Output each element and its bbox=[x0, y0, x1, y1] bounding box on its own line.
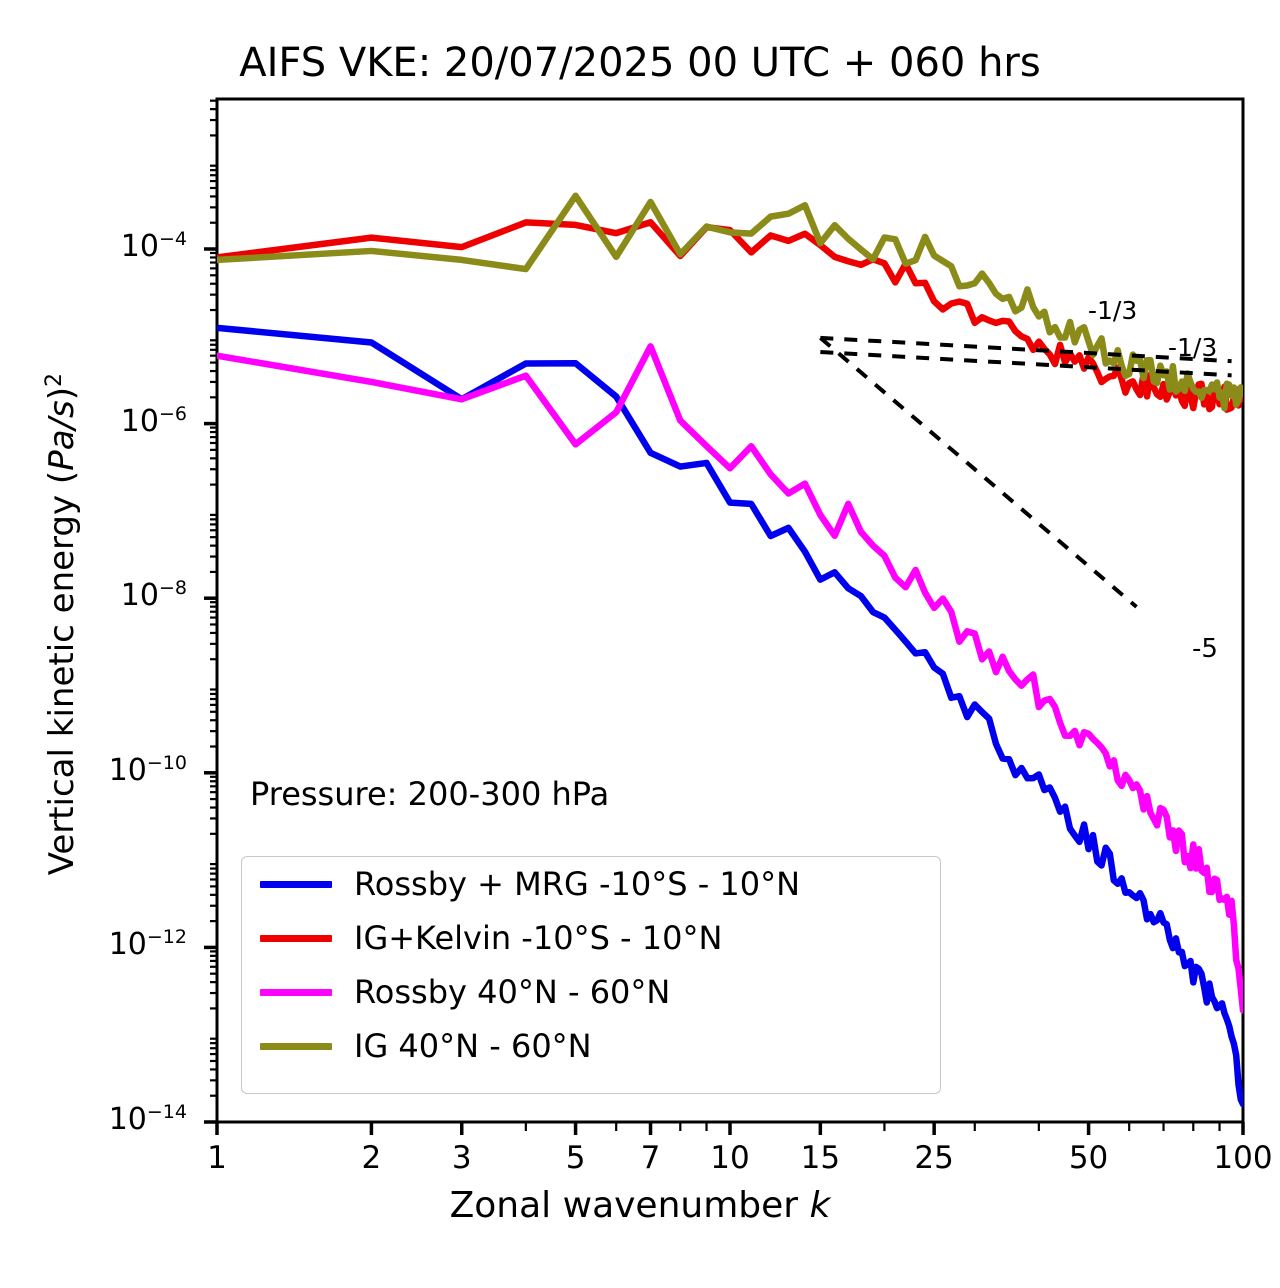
x-tick-label-1: 1 bbox=[172, 1140, 262, 1176]
x-tick-label-50: 50 bbox=[1044, 1140, 1134, 1176]
x-tick-label-3: 3 bbox=[417, 1140, 507, 1176]
y-tick-exponent: −10 bbox=[147, 752, 187, 774]
legend-item-0[interactable]: Rossby + MRG -10°S - 10°N bbox=[242, 857, 940, 911]
y-tick-exponent: −12 bbox=[147, 926, 187, 948]
slope-label-2: -5 bbox=[1192, 634, 1218, 664]
legend-label-3: IG 40°N - 60°N bbox=[354, 1027, 592, 1065]
legend-label-0: Rossby + MRG -10°S - 10°N bbox=[354, 865, 800, 903]
legend-label-1: IG+Kelvin -10°S - 10°N bbox=[354, 919, 722, 957]
legend[interactable]: Rossby + MRG -10°S - 10°NIG+Kelvin -10°S… bbox=[241, 856, 941, 1094]
legend-swatch-0 bbox=[260, 881, 332, 888]
legend-swatch-3 bbox=[260, 1043, 332, 1050]
x-tick-label-15: 15 bbox=[775, 1140, 865, 1176]
y-tick-base: 10 bbox=[109, 927, 147, 962]
slope-label-1: -1/3 bbox=[1168, 333, 1217, 362]
y-tick-base: 10 bbox=[109, 753, 147, 788]
legend-swatch-2 bbox=[260, 989, 332, 996]
y-tick-base: 10 bbox=[109, 1102, 147, 1137]
y-tick-label--12: 10−12 bbox=[57, 926, 187, 962]
y-tick-base: 10 bbox=[121, 404, 159, 439]
x-tick-label-100: 100 bbox=[1198, 1140, 1280, 1176]
y-tick-base: 10 bbox=[121, 578, 159, 613]
y-tick-label--6: 10−6 bbox=[57, 403, 187, 439]
legend-item-2[interactable]: Rossby 40°N - 60°N bbox=[242, 965, 940, 1019]
plot-area bbox=[0, 0, 1280, 1288]
y-tick-label--4: 10−4 bbox=[57, 228, 187, 264]
slope-label-0: -1/3 bbox=[1088, 296, 1137, 325]
x-tick-label-2: 2 bbox=[326, 1140, 416, 1176]
figure-canvas: AIFS VKE: 20/07/2025 00 UTC + 060 hrs Ve… bbox=[0, 0, 1280, 1288]
y-tick-label--8: 10−8 bbox=[57, 577, 187, 613]
legend-item-1[interactable]: IG+Kelvin -10°S - 10°N bbox=[242, 911, 940, 965]
y-tick-base: 10 bbox=[121, 229, 159, 264]
x-tick-label-10: 10 bbox=[685, 1140, 775, 1176]
x-tick-label-25: 25 bbox=[889, 1140, 979, 1176]
y-tick-exponent: −6 bbox=[159, 403, 187, 425]
y-tick-exponent: −4 bbox=[159, 228, 187, 250]
legend-swatch-1 bbox=[260, 935, 332, 942]
y-tick-exponent: −8 bbox=[159, 577, 187, 599]
pressure-annotation: Pressure: 200-300 hPa bbox=[250, 775, 609, 813]
y-tick-exponent: −14 bbox=[147, 1101, 187, 1123]
y-tick-label--14: 10−14 bbox=[57, 1101, 187, 1137]
legend-label-2: Rossby 40°N - 60°N bbox=[354, 973, 670, 1011]
x-tick-label-7: 7 bbox=[606, 1140, 696, 1176]
y-tick-label--10: 10−10 bbox=[57, 752, 187, 788]
legend-item-3[interactable]: IG 40°N - 60°N bbox=[242, 1019, 940, 1073]
